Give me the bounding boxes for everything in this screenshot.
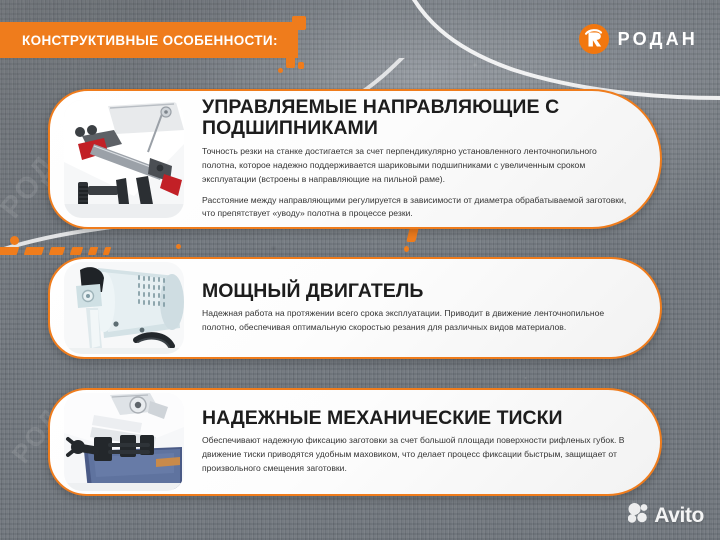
orange-dash-accent	[0, 246, 176, 255]
banner-splatter-1	[292, 16, 306, 30]
banner-splatter-2	[286, 56, 295, 68]
poster-canvas: РОД РОД РО КОНСТРУКТИВНЫЕ ОСОБЕННОСТИ: Р…	[0, 0, 720, 540]
orange-dot-2	[176, 244, 181, 249]
section-banner-label: КОНСТРУКТИВНЫЕ ОСОБЕННОСТИ:	[0, 33, 278, 48]
brand-name: РОДАН	[618, 29, 698, 50]
avito-dots-icon	[628, 503, 649, 528]
avito-watermark-label: Avito	[654, 504, 704, 528]
feature-card-motor[interactable]: МОЩНЫЙ ДВИГАТЕЛЬ Надежная работа на прот…	[48, 257, 662, 359]
brand-logo: РОДАН	[579, 24, 698, 54]
feature-card-motor-title: МОЩНЫЙ ДВИГАТЕЛЬ	[202, 281, 630, 302]
feature-card-guides-title: УПРАВЛЯЕМЫЕ НАПРАВЛЯЮЩИЕ С ПОДШИПНИКАМИ	[202, 97, 630, 139]
avito-watermark: Avito	[628, 503, 704, 528]
feature-card-vise[interactable]: НАДЕЖНЫЕ МЕХАНИЧЕСКИЕ ТИСКИ Обеспечивают…	[48, 388, 662, 496]
feature-card-vise-paragraph-1: Обеспечивают надежную фиксацию заготовки…	[202, 434, 630, 476]
feature-card-motor-body: МОЩНЫЙ ДВИГАТЕЛЬ Надежная работа на прот…	[184, 281, 660, 335]
feature-card-vise-title: НАДЕЖНЫЕ МЕХАНИЧЕСКИЕ ТИСКИ	[202, 408, 630, 429]
rodan-r-logo-icon	[579, 24, 609, 54]
feature-card-vise-body: НАДЕЖНЫЕ МЕХАНИЧЕСКИЕ ТИСКИ Обеспечивают…	[184, 408, 660, 476]
feature-card-guides-body: УПРАВЛЯЕМЫЕ НАПРАВЛЯЮЩИЕ С ПОДШИПНИКАМИ …	[184, 97, 660, 222]
electric-motor-photo	[64, 262, 184, 354]
blade-guide-photo	[64, 100, 184, 218]
orange-drip-1	[406, 228, 418, 242]
orange-drip-2	[404, 246, 409, 252]
feature-card-guides-paragraph-1: Точность резки на станке достигается за …	[202, 145, 630, 187]
feature-card-guides[interactable]: УПРАВЛЯЕМЫЕ НАПРАВЛЯЮЩИЕ С ПОДШИПНИКАМИ …	[48, 89, 662, 229]
banner-splatter-4	[278, 68, 283, 73]
mechanical-vise-photo	[64, 393, 184, 491]
feature-card-guides-paragraph-2: Расстояние между направляющими регулируе…	[202, 194, 630, 222]
banner-splatter-3	[298, 62, 304, 69]
section-banner: КОНСТРУКТИВНЫЕ ОСОБЕННОСТИ:	[0, 22, 298, 58]
feature-card-motor-paragraph-1: Надежная работа на протяжении всего срок…	[202, 307, 630, 335]
orange-dot-1	[10, 236, 19, 245]
